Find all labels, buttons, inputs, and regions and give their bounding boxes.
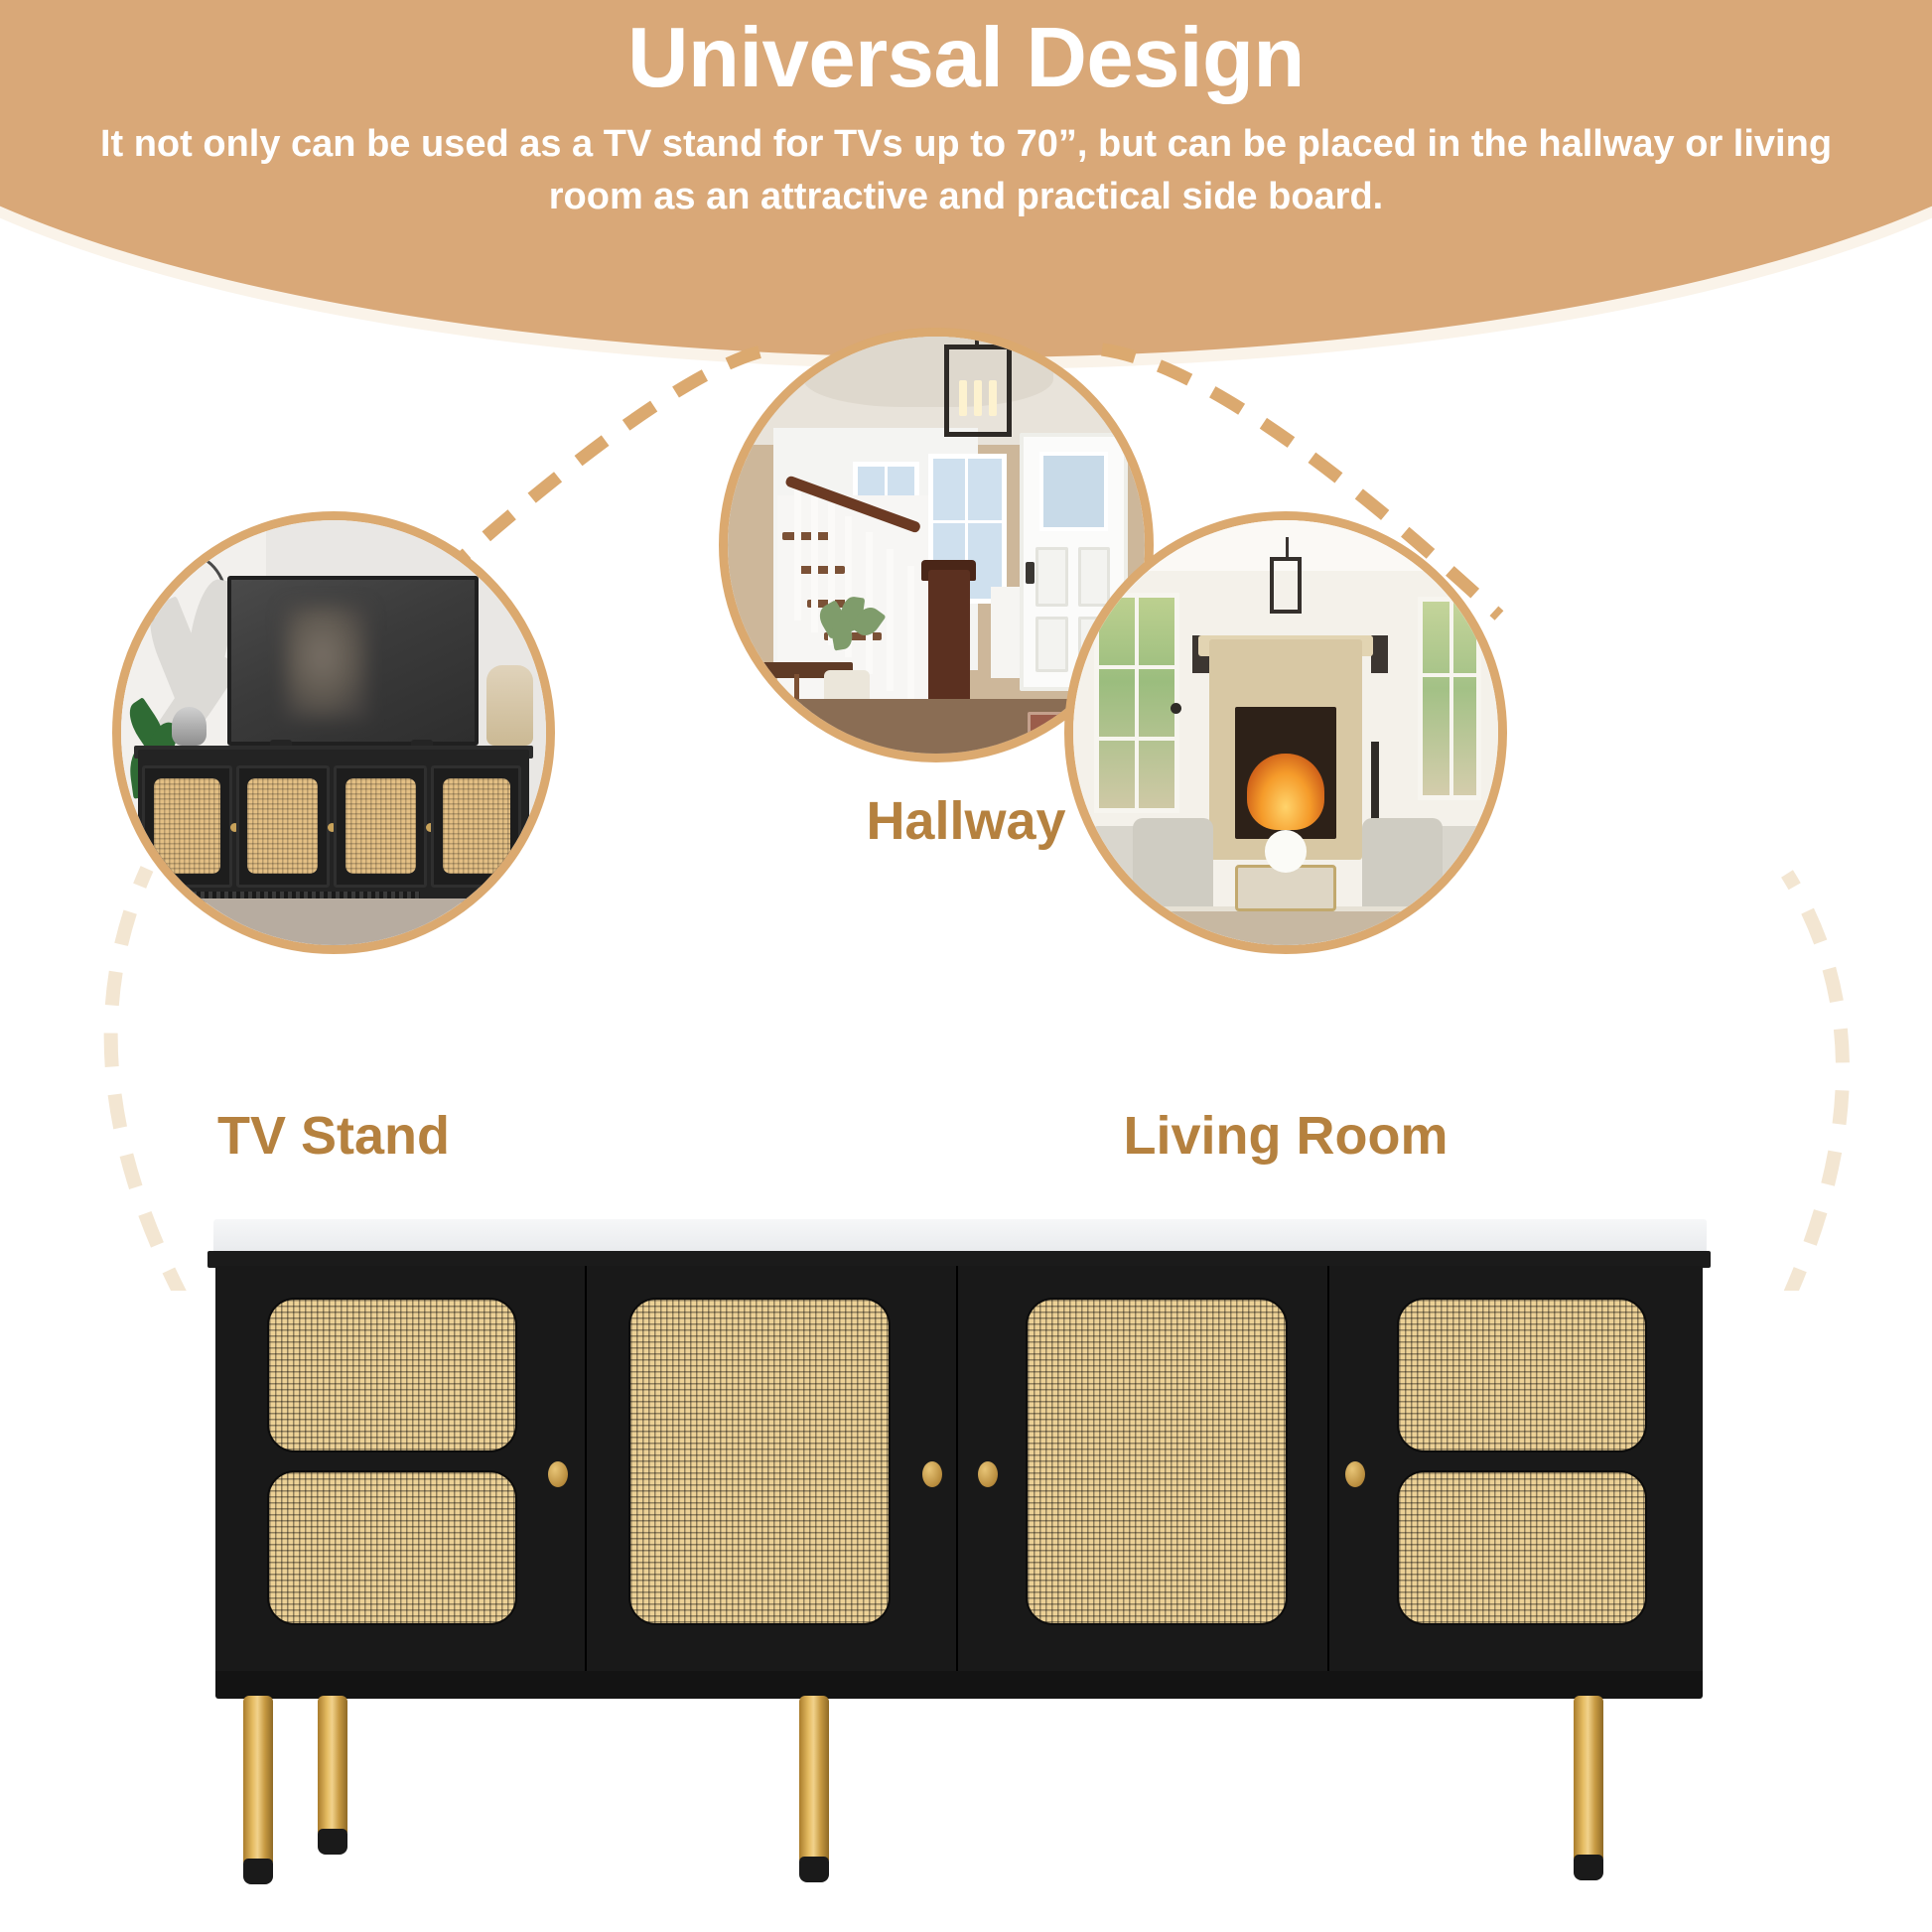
cabinet-leg [243, 1696, 273, 1864]
rattan-panel [1399, 1300, 1645, 1450]
photo-circle-tv-stand[interactable] [112, 511, 555, 954]
cabinet-leg [799, 1696, 829, 1863]
pendant-light-icon [1265, 537, 1308, 614]
cabinet-door-2[interactable] [587, 1266, 958, 1683]
cabinet-body [215, 1266, 1703, 1683]
television-icon [227, 576, 479, 746]
lantern-pendant-icon [944, 345, 1011, 436]
tv-stand-scene [121, 520, 546, 945]
label-tv-stand: TV Stand [112, 1105, 555, 1167]
page-title: Universal Design [0, 14, 1932, 102]
label-hallway: Hallway [0, 790, 1932, 852]
rattan-panel [269, 1300, 515, 1450]
connector-arc-lower-right [1787, 874, 1843, 1291]
door-knob-4[interactable] [1345, 1461, 1365, 1487]
rattan-panel [269, 1472, 515, 1623]
rattan-panel [1399, 1472, 1645, 1623]
infographic-canvas: Universal Design It not only can be used… [0, 0, 1932, 1932]
header-text-block: Universal Design It not only can be used… [0, 0, 1932, 222]
cabinet-door-4[interactable] [1329, 1266, 1703, 1683]
cabinet-leg-foot [799, 1857, 829, 1882]
cabinet-leg [1574, 1696, 1603, 1861]
cabinet-leg [318, 1696, 347, 1835]
cabinet-door-1[interactable] [215, 1266, 587, 1683]
photo-circle-living-room[interactable] [1064, 511, 1507, 954]
plant-icon [803, 595, 895, 678]
door-knob-1[interactable] [548, 1461, 568, 1487]
cabinet-leg-foot [243, 1859, 273, 1884]
cabinet-leg-foot [318, 1829, 347, 1855]
door-knob-2[interactable] [922, 1461, 942, 1487]
living-room-scene [1073, 520, 1498, 945]
door-knob-3[interactable] [978, 1461, 998, 1487]
rattan-panel [630, 1300, 889, 1623]
cabinet-leg-foot [1574, 1855, 1603, 1880]
product-sideboard[interactable] [202, 1219, 1719, 1914]
cabinet-door-3[interactable] [958, 1266, 1329, 1683]
page-subtitle: It not only can be used as a TV stand fo… [53, 118, 1879, 222]
rattan-panel [1028, 1300, 1286, 1623]
cabinet-plinth [215, 1671, 1703, 1699]
label-living-room: Living Room [1064, 1105, 1507, 1167]
